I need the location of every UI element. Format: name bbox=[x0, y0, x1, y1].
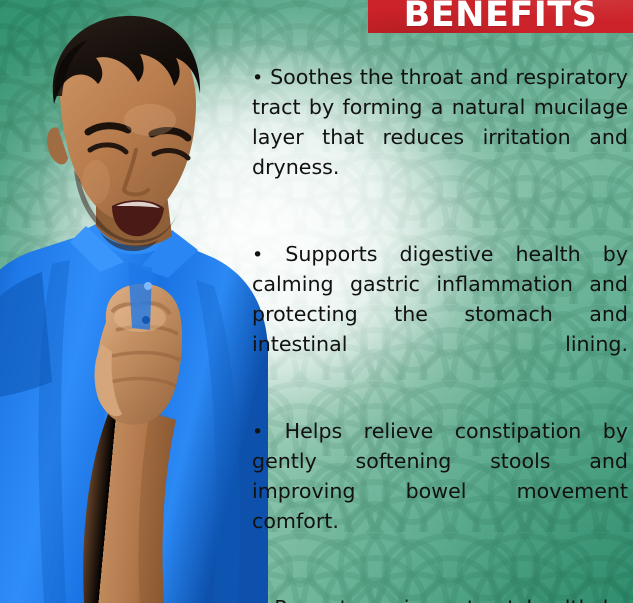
bullet-icon-4: • bbox=[252, 598, 263, 603]
benefits-poster: BENEFITS bbox=[0, 0, 633, 603]
shirt-button-top bbox=[144, 282, 152, 290]
bullet-icon-2: • bbox=[252, 244, 263, 266]
banner-title: BENEFITS bbox=[404, 0, 598, 32]
benefit-item-4: • Promotes urinary tract health by reduc… bbox=[252, 593, 628, 603]
benefit-text-2: Supports digestive health by calming gas… bbox=[252, 242, 628, 356]
benefit-text-1: Soothes the throat and respiratory tract… bbox=[252, 65, 628, 179]
benefits-banner: BENEFITS bbox=[368, 0, 633, 33]
benefit-item-1: • Soothes the throat and respiratory tra… bbox=[252, 62, 628, 212]
benefit-item-3: • Helps relieve constipation by gently s… bbox=[252, 416, 628, 566]
benefit-text-3: Helps relieve constipation by gently sof… bbox=[252, 419, 628, 533]
shirt-button-bottom bbox=[142, 316, 150, 324]
benefit-text-4: Promotes urinary tract health by reducin… bbox=[252, 596, 628, 603]
benefit-item-2: • Supports digestive health by calming g… bbox=[252, 239, 628, 389]
person-photo bbox=[0, 0, 268, 603]
benefits-list: • Soothes the throat and respiratory tra… bbox=[252, 62, 628, 603]
bullet-icon-3: • bbox=[252, 421, 263, 443]
bullet-icon-1: • bbox=[252, 67, 263, 89]
